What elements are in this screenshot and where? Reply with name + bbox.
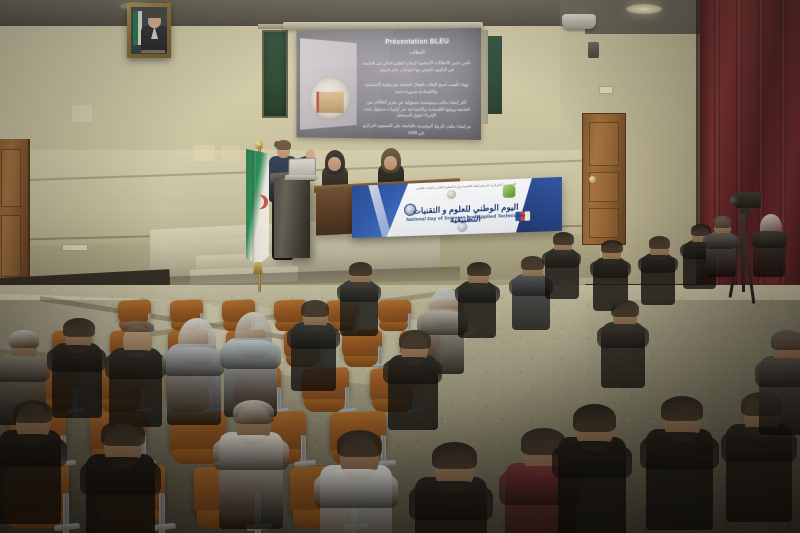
audience-shoulders bbox=[455, 283, 500, 304]
audience-cap bbox=[573, 404, 616, 432]
audience-shoulders bbox=[597, 324, 649, 348]
audience-shoulders bbox=[552, 441, 632, 478]
audience-shoulders bbox=[80, 457, 161, 495]
conference-hall-photograph: Présentation BLEU المطلب تكمن جذور الاخت… bbox=[0, 0, 800, 533]
audience-hair bbox=[399, 330, 431, 349]
audience-shoulders bbox=[703, 233, 739, 250]
audience-shoulders bbox=[383, 357, 442, 384]
audience-hair bbox=[121, 321, 154, 332]
audience-hair bbox=[301, 300, 330, 317]
audience-shoulders bbox=[162, 347, 225, 376]
audience-shoulders bbox=[0, 434, 67, 468]
audience-shoulders bbox=[287, 325, 340, 350]
audience-hair bbox=[521, 256, 544, 270]
audience-hair bbox=[349, 262, 372, 276]
audience-shoulders bbox=[220, 340, 282, 369]
audience-shoulders bbox=[590, 259, 631, 278]
audience-hair bbox=[713, 216, 732, 228]
audience-hair bbox=[9, 330, 39, 348]
audience-hair bbox=[661, 396, 703, 421]
audience-shoulders bbox=[213, 435, 289, 470]
audience-shoulders bbox=[337, 282, 381, 302]
audience-shoulders bbox=[751, 231, 788, 248]
audience-shoulders bbox=[755, 358, 800, 387]
audience-hair bbox=[432, 442, 477, 469]
audience-hair bbox=[337, 430, 382, 457]
audience-shoulders bbox=[105, 350, 167, 379]
audience-shoulders bbox=[409, 481, 493, 520]
audience-hair bbox=[601, 240, 623, 253]
audience-hair bbox=[467, 262, 491, 276]
audience-shoulders bbox=[0, 356, 50, 382]
audience-shoulders bbox=[47, 345, 106, 372]
audience-hair bbox=[553, 232, 574, 245]
audience-hair bbox=[771, 330, 800, 350]
audience-shoulders bbox=[314, 469, 398, 508]
audience-shoulders bbox=[638, 255, 678, 274]
audience-shoulders bbox=[542, 250, 581, 268]
audience-hair bbox=[611, 300, 639, 317]
audience-hair bbox=[233, 400, 274, 424]
audience-layer bbox=[0, 0, 800, 533]
audience-shoulders bbox=[640, 432, 718, 468]
audience-hair bbox=[13, 400, 52, 423]
audience-hair bbox=[101, 420, 145, 446]
audience-hair bbox=[63, 318, 95, 337]
audience-hair bbox=[649, 236, 671, 249]
